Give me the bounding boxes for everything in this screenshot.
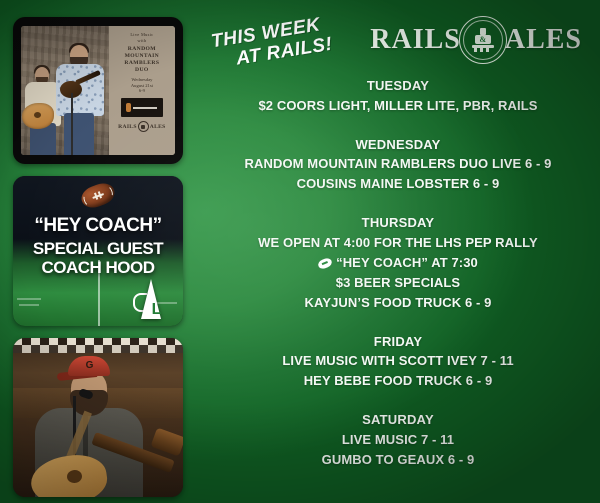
poster-band-line-4: DUO bbox=[135, 67, 149, 74]
jeans-shape bbox=[64, 113, 94, 155]
schedule-day-line: GUMBO TO GEAUX 6 - 9 bbox=[196, 450, 600, 470]
hey-coach-text-block: “HEY COACH” SPECIAL GUEST COACH HOOD bbox=[13, 216, 183, 277]
football-laces bbox=[92, 193, 104, 199]
schedule-day-line: WE OPEN AT 4:00 FOR THE LHS PEP RALLY bbox=[196, 233, 600, 253]
brand-word-right: ALES bbox=[505, 24, 582, 56]
schedule-day-block: FRIDAYLIVE MUSIC WITH SCOTT IVEY 7 - 11H… bbox=[196, 332, 600, 392]
schedule-day-line: “HEY COACH” AT 7:30 bbox=[196, 253, 600, 273]
schedule-day-name: SATURDAY bbox=[196, 410, 600, 430]
schedule-day-block: SATURDAYLIVE MUSIC 7 - 11GUMBO TO GEAUX … bbox=[196, 410, 600, 470]
guitar-soundhole bbox=[34, 112, 41, 118]
poster-date-line-3: 6-9 bbox=[139, 88, 145, 94]
schedule-line-text: LIVE MUSIC 7 - 11 bbox=[342, 432, 454, 447]
schedule-day-line: $3 BEER SPECIALS bbox=[196, 273, 600, 293]
schedule-line-text: “HEY COACH” AT 7:30 bbox=[336, 255, 478, 270]
weekly-events-poster: Live Music with RANDOM MOUNTAIN RAMBLERS… bbox=[0, 0, 600, 503]
poster-logo-left-word: RAILS bbox=[118, 124, 137, 130]
poster-text-panel: Live Music with RANDOM MOUNTAIN RAMBLERS… bbox=[109, 26, 175, 155]
locomotive-wheels bbox=[474, 48, 492, 52]
schedule-day-name: WEDNESDAY bbox=[196, 135, 600, 155]
barrel-icon bbox=[126, 103, 131, 112]
poster-band-line-2: MOUNTAIN bbox=[125, 53, 159, 60]
rails-and-ales-logo[interactable]: RAILS & ALES bbox=[370, 16, 582, 64]
weekly-schedule: TUESDAY$2 COORS LIGHT, MILLER LITE, PBR,… bbox=[196, 76, 600, 489]
schedule-day-name: THURSDAY bbox=[196, 213, 600, 233]
schedule-line-text: LIVE MUSIC WITH SCOTT IVEY 7 - 11 bbox=[282, 353, 513, 368]
schedule-day-block: TUESDAY$2 COORS LIGHT, MILLER LITE, PBR,… bbox=[196, 76, 600, 116]
locomotive-emblem-icon: & bbox=[459, 16, 507, 64]
schedule-line-text: RANDOM MOUNTAIN RAMBLERS DUO LIVE 6 - 9 bbox=[245, 156, 552, 171]
schedule-line-text: KAYJUN’S FOOD TRUCK 6 - 9 bbox=[305, 295, 492, 310]
poster-headline: THIS WEEK AT RAILS! bbox=[210, 5, 385, 74]
schedule-day-line: LIVE MUSIC WITH SCOTT IVEY 7 - 11 bbox=[196, 351, 600, 371]
poster-sign-badge bbox=[121, 98, 163, 117]
checkered-border bbox=[13, 338, 183, 353]
mic-stand-icon bbox=[71, 93, 73, 155]
schedule-day-line: HEY BEBE FOOD TRUCK 6 - 9 bbox=[196, 371, 600, 391]
poster-rails-ales-logo: RAILS ALES bbox=[118, 121, 165, 132]
hash-mark bbox=[19, 304, 39, 306]
photo-band-poster[interactable]: Live Music with RANDOM MOUNTAIN RAMBLERS… bbox=[13, 17, 183, 164]
sign-bar bbox=[133, 107, 157, 109]
poster-band-line-3: RAMBLERS bbox=[124, 60, 159, 67]
schedule-day-block: WEDNESDAYRANDOM MOUNTAIN RAMBLERS DUO LI… bbox=[196, 135, 600, 195]
schedule-day-line: LIVE MUSIC 7 - 11 bbox=[196, 430, 600, 450]
poster-caption-with: with bbox=[137, 38, 146, 44]
schedule-day-line: KAYJUN’S FOOD TRUCK 6 - 9 bbox=[196, 293, 600, 313]
schedule-day-line: RANDOM MOUNTAIN RAMBLERS DUO LIVE 6 - 9 bbox=[196, 154, 600, 174]
photo-live-singer[interactable]: G bbox=[13, 338, 183, 497]
poster-logo-right-word: ALES bbox=[150, 124, 166, 130]
smokestack-shape bbox=[480, 28, 486, 35]
locomotive-emblem-icon bbox=[138, 121, 149, 132]
cap-letter: G bbox=[84, 360, 95, 371]
hey-coach-line-3: COACH HOOD bbox=[13, 258, 183, 277]
schedule-day-name: FRIDAY bbox=[196, 332, 600, 352]
football-icon bbox=[317, 256, 333, 270]
poster-inner: Live Music with RANDOM MOUNTAIN RAMBLERS… bbox=[21, 26, 175, 155]
schedule-day-line: $2 COORS LIGHT, MILLER LITE, PBR, RAILS bbox=[196, 96, 600, 116]
football-tip-left bbox=[82, 193, 91, 205]
schedule-line-text: HEY BEBE FOOD TRUCK 6 - 9 bbox=[304, 373, 493, 388]
musician-mandolin bbox=[55, 45, 105, 155]
schedule-line-text: $3 BEER SPECIALS bbox=[336, 275, 460, 290]
schedule-line-text: GUMBO TO GEAUX 6 - 9 bbox=[322, 452, 475, 467]
schedule-day-name: TUESDAY bbox=[196, 76, 600, 96]
hey-coach-line-1: “HEY COACH” bbox=[13, 216, 183, 236]
hash-mark bbox=[17, 298, 41, 300]
photo-hey-coach[interactable]: “HEY COACH” SPECIAL GUEST COACH HOOD L bbox=[13, 176, 183, 326]
schedule-line-text: $2 COORS LIGHT, MILLER LITE, PBR, RAILS bbox=[258, 98, 537, 113]
hey-coach-line-2: SPECIAL GUEST bbox=[13, 239, 183, 258]
megaphone-icon: L bbox=[135, 277, 177, 321]
football-tip-right bbox=[105, 185, 114, 197]
schedule-day-line: COUSINS MAINE LOBSTER 6 - 9 bbox=[196, 174, 600, 194]
schedule-line-text: WE OPEN AT 4:00 FOR THE LHS PEP RALLY bbox=[258, 235, 538, 250]
poster-band-line-1: RANDOM bbox=[128, 46, 156, 53]
megaphone-letter: L bbox=[148, 301, 165, 319]
ampersand-mark: & bbox=[477, 35, 489, 44]
photo-column: Live Music with RANDOM MOUNTAIN RAMBLERS… bbox=[0, 0, 196, 503]
schedule-line-text: COUSINS MAINE LOBSTER 6 - 9 bbox=[297, 176, 500, 191]
brand-word-left: RAILS bbox=[370, 24, 461, 56]
locomotive-icon: & bbox=[472, 28, 494, 52]
schedule-day-block: THURSDAYWE OPEN AT 4:00 FOR THE LHS PEP … bbox=[196, 213, 600, 313]
band-photo bbox=[21, 26, 109, 155]
